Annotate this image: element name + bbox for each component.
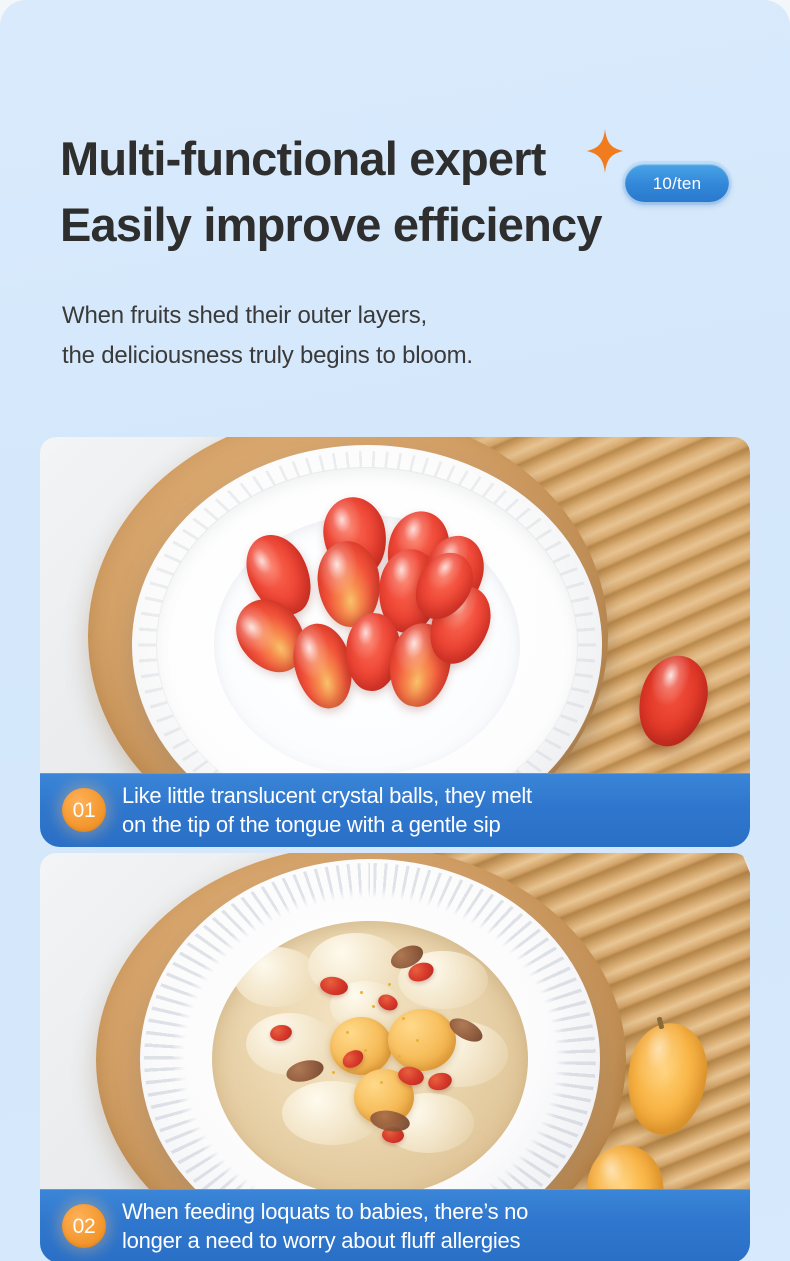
photo-tomatoes xyxy=(40,437,750,777)
osmanthus-petal xyxy=(416,1039,419,1042)
osmanthus-petal xyxy=(360,991,363,994)
caption-line1: When feeding loquats to babies, there’s … xyxy=(122,1197,528,1226)
caption-line1: Like little translucent crystal balls, t… xyxy=(122,781,532,810)
caption-text-02: When feeding loquats to babies, there’s … xyxy=(122,1197,528,1255)
osmanthus-petal xyxy=(388,983,391,986)
osmanthus-petal xyxy=(372,1005,375,1008)
subtitle-line2: the deliciousness truly begins to bloom. xyxy=(62,336,702,376)
header-block: Multi-functional expert 10/ten Easily im… xyxy=(60,126,750,258)
status-badge-label: 10/ten xyxy=(653,175,701,192)
caption-bar-01: 01 Like little translucent crystal balls… xyxy=(40,773,750,847)
caption-line2: longer a need to worry about fluff aller… xyxy=(122,1226,528,1255)
osmanthus-petal xyxy=(398,1055,401,1058)
osmanthus-petal xyxy=(380,1081,383,1084)
osmanthus-petal xyxy=(332,1071,335,1074)
loquat-piece xyxy=(330,1017,392,1075)
snow-fungus xyxy=(234,947,318,1007)
feature-card-02[interactable]: 02 When feeding loquats to babies, there… xyxy=(40,853,750,1261)
osmanthus-petal xyxy=(364,1049,367,1052)
caption-line2: on the tip of the tongue with a gentle s… xyxy=(122,810,532,839)
soup-contents xyxy=(212,921,528,1193)
caption-bar-02: 02 When feeding loquats to babies, there… xyxy=(40,1189,750,1261)
osmanthus-petal xyxy=(402,1017,405,1020)
loquat-piece xyxy=(388,1009,456,1071)
promo-page: Multi-functional expert 10/ten Easily im… xyxy=(0,0,790,1261)
number-badge-label: 01 xyxy=(73,800,96,821)
headline-row: Multi-functional expert 10/ten Easily im… xyxy=(60,126,750,258)
caption-text-01: Like little translucent crystal balls, t… xyxy=(122,781,532,839)
number-badge-02: 02 xyxy=(62,1204,106,1248)
osmanthus-petal xyxy=(346,1031,349,1034)
subtitle-line1: When fruits shed their outer layers, xyxy=(62,296,702,336)
subtitle: When fruits shed their outer layers, the… xyxy=(62,296,702,376)
number-badge-label: 02 xyxy=(73,1216,96,1237)
status-badge[interactable]: 10/ten xyxy=(625,164,729,202)
feature-card-01[interactable]: 01 Like little translucent crystal balls… xyxy=(40,437,750,847)
photo-loquat-soup xyxy=(40,853,750,1193)
number-badge-01: 01 xyxy=(62,788,106,832)
